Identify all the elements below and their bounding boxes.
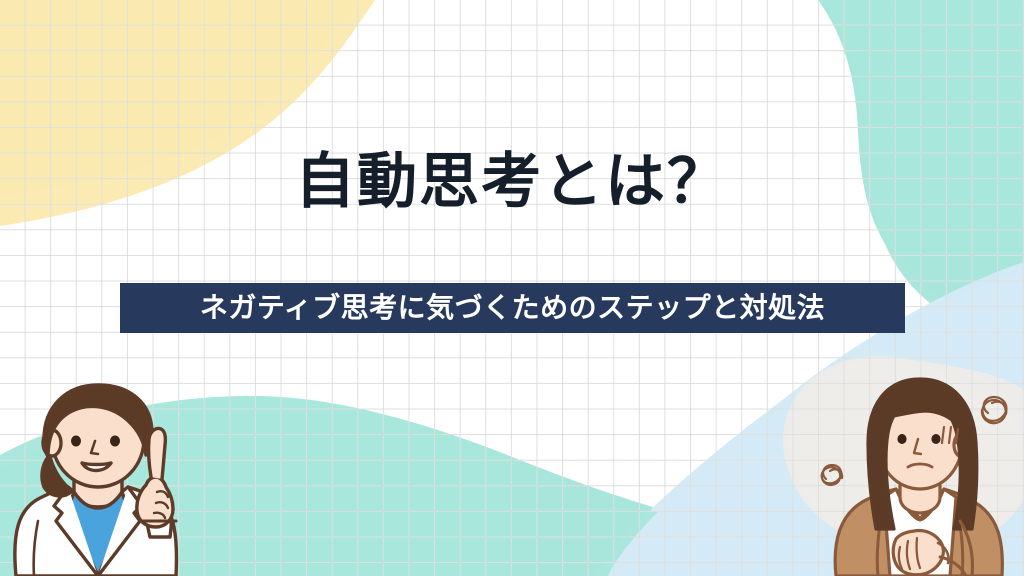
character-right bbox=[820, 361, 1020, 576]
index-finger bbox=[149, 428, 166, 479]
character-left bbox=[0, 361, 209, 576]
eye-left bbox=[897, 434, 906, 444]
eye-right bbox=[931, 434, 940, 444]
eye-left bbox=[71, 436, 81, 447]
eye-right bbox=[110, 436, 120, 447]
mouth bbox=[82, 463, 111, 471]
slide-canvas: 自動思考とは？ ネガティブ思考に気づくためのステップと対処法 bbox=[0, 0, 1024, 576]
worry-scribble-right bbox=[982, 397, 1006, 423]
subtitle-text: ネガティブ思考に気づくためのステップと対処法 bbox=[200, 294, 825, 322]
worry-scribble-left bbox=[822, 465, 842, 485]
page-title: 自動思考とは？ bbox=[0, 152, 1024, 212]
subtitle-banner: ネガティブ思考に気づくためのステップと対処法 bbox=[120, 283, 905, 333]
